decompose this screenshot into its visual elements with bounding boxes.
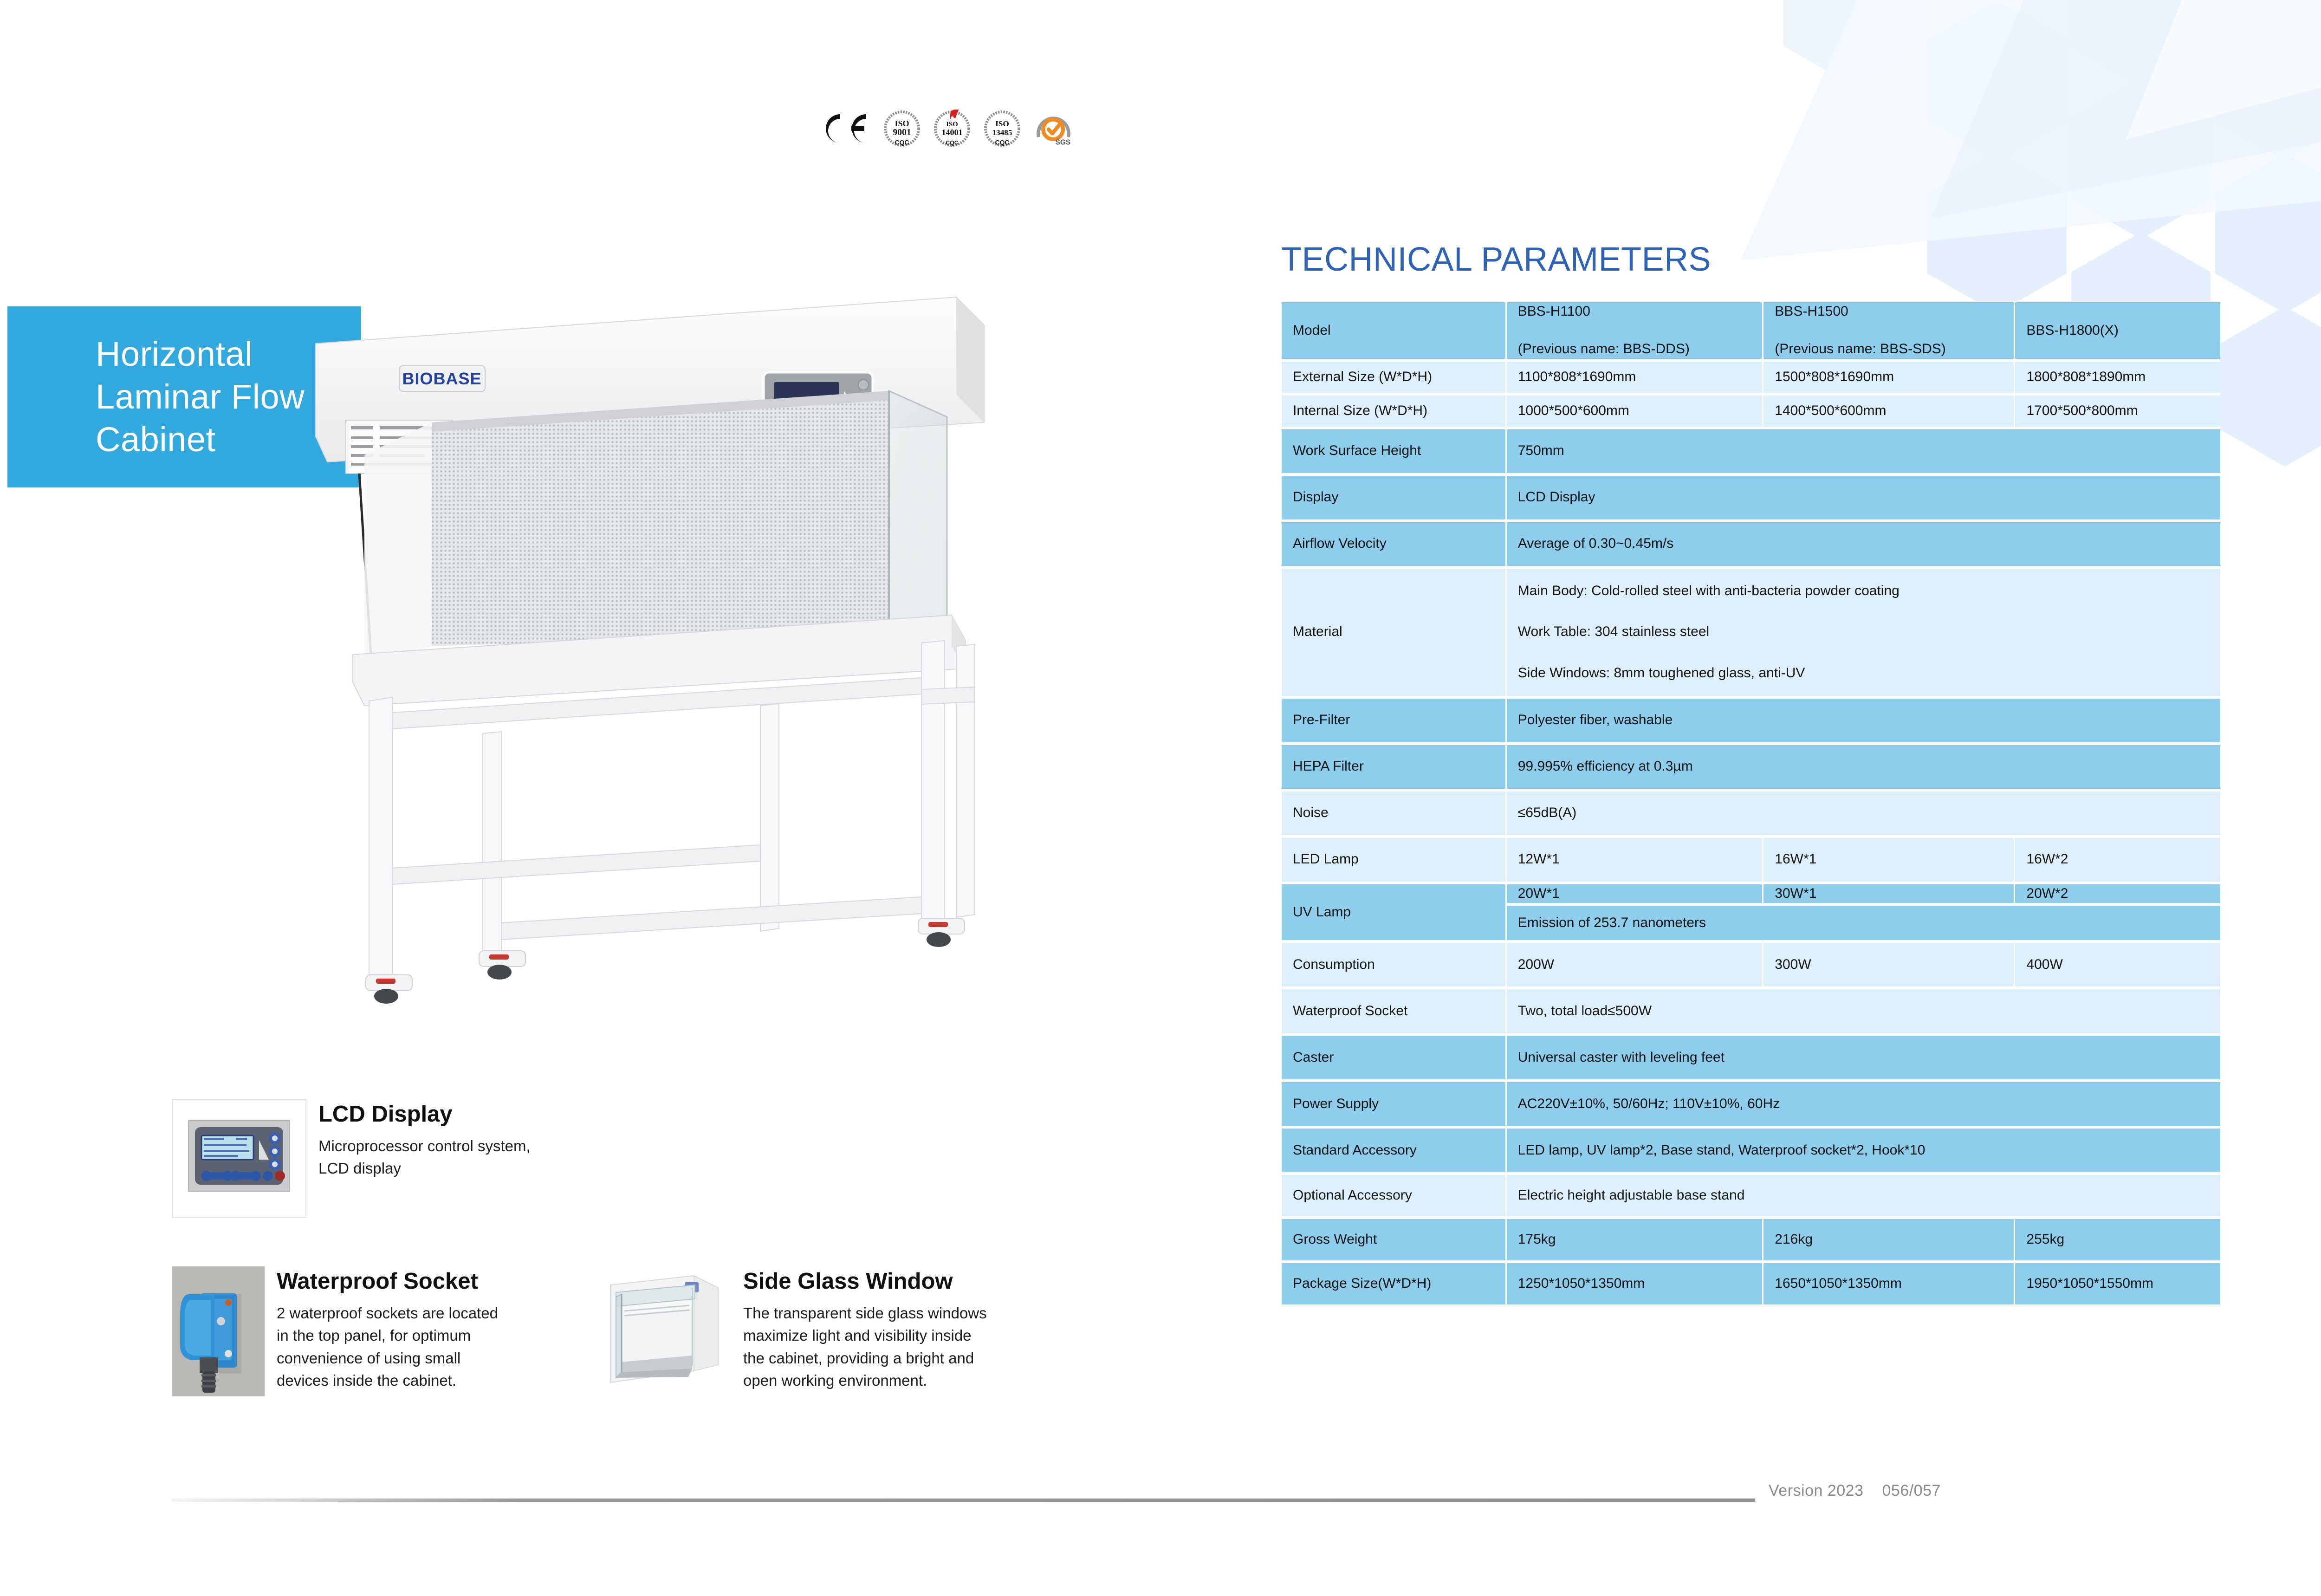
row-cell: 20W*2 xyxy=(2015,883,2220,905)
row-label: Airflow Velocity xyxy=(1282,521,1505,567)
row-cell: Two, total load≤500W xyxy=(1507,988,2220,1034)
row-cell: 16W*2 xyxy=(2015,837,2220,883)
svg-text:ISO: ISO xyxy=(946,121,958,128)
table-row: Model BBS-H1100(Previous name: BBS-DDS) … xyxy=(1282,301,2220,360)
feature-side-glass-window: Side Glass Window The transparent side g… xyxy=(596,1266,987,1392)
row-cell: 20W*1 xyxy=(1507,883,1763,905)
row-cell: AC220V±10%, 50/60Hz; 110V±10%, 60Hz xyxy=(1507,1081,2220,1127)
row-cell: BBS-H1800(X) xyxy=(2015,301,2220,360)
footer-page-number: 056/057 xyxy=(1882,1482,1941,1500)
iso-9001-badge-icon: ISO 9001 CQC xyxy=(883,110,921,148)
feature-heading: Waterproof Socket xyxy=(277,1269,498,1294)
row-cell: LED lamp, UV lamp*2, Base stand, Waterpr… xyxy=(1507,1127,2220,1174)
feature-body: 2 waterproof sockets are located in the … xyxy=(277,1302,498,1392)
row-cell: 99.995% efficiency at 0.3µm xyxy=(1507,744,2220,790)
row-cell: 30W*1 xyxy=(1763,883,2014,905)
iso-14001-badge-icon: ISO 14001 CQC xyxy=(933,110,971,148)
table-row: Consumption 200W 300W 400W xyxy=(1282,941,2220,988)
ce-mark-icon xyxy=(821,110,871,147)
row-cell: 1400*500*600mm xyxy=(1763,394,2014,428)
row-label: Optional Accessory xyxy=(1282,1174,1505,1218)
footer-version: Version 2023 xyxy=(1769,1482,1864,1500)
row-cell: Emission of 253.7 nanometers xyxy=(1507,904,2220,941)
row-cell: 16W*1 xyxy=(1763,837,2014,883)
row-label: Work Surface Height xyxy=(1282,428,1505,474)
svg-text:BIOBASE: BIOBASE xyxy=(402,369,481,388)
row-cell: 1800*808*1890mm xyxy=(2015,360,2220,394)
row-label: External Size (W*D*H) xyxy=(1282,360,1505,394)
row-label: Caster xyxy=(1282,1034,1505,1081)
row-cell: 1250*1050*1350mm xyxy=(1507,1262,1763,1306)
svg-text:ISO: ISO xyxy=(895,119,909,128)
lcd-display-photo xyxy=(172,1099,306,1218)
row-label: Standard Accessory xyxy=(1282,1127,1505,1174)
row-cell: Universal caster with leveling feet xyxy=(1507,1034,2220,1081)
table-row: Work Surface Height 750mm xyxy=(1282,428,2220,474)
row-cell: BBS-H1500(Previous name: BBS-SDS) xyxy=(1763,301,2014,360)
feature-body: The transparent side glass windows maxim… xyxy=(743,1302,987,1392)
row-cell: 216kg xyxy=(1763,1218,2014,1262)
footer: Version 2023 056/057 xyxy=(1769,1482,1941,1500)
row-cell: 12W*1 xyxy=(1507,837,1763,883)
feature-body: Microprocessor control system, LCD displ… xyxy=(318,1135,531,1180)
row-label: Power Supply xyxy=(1282,1081,1505,1127)
row-label: Noise xyxy=(1282,790,1505,837)
table-row: Pre-Filter Polyester fiber, washable xyxy=(1282,697,2220,744)
svg-text:CQC: CQC xyxy=(946,139,958,146)
svg-text:ISO: ISO xyxy=(995,119,1009,128)
table-row: Display LCD Display xyxy=(1282,474,2220,521)
svg-text:13485: 13485 xyxy=(992,128,1012,137)
row-cell: LCD Display xyxy=(1507,474,2220,521)
table-row: External Size (W*D*H) 1100*808*1690mm 15… xyxy=(1282,360,2220,394)
row-cell: 400W xyxy=(2015,941,2220,988)
row-label: Gross Weight xyxy=(1282,1218,1505,1262)
waterproof-socket-photo xyxy=(172,1266,265,1396)
feature-heading: Side Glass Window xyxy=(743,1269,987,1294)
row-cell: 200W xyxy=(1507,941,1763,988)
table-row: HEPA Filter 99.995% efficiency at 0.3µm xyxy=(1282,744,2220,790)
row-cell: 1500*808*1690mm xyxy=(1763,360,2014,394)
row-label: Model xyxy=(1282,301,1505,360)
row-cell: Average of 0.30~0.45m/s xyxy=(1507,521,2220,567)
svg-text:CQC: CQC xyxy=(895,138,909,146)
table-row: Optional Accessory Electric height adjus… xyxy=(1282,1174,2220,1218)
page-section-title: TECHNICAL PARAMETERS xyxy=(1281,240,1711,279)
row-label: Pre-Filter xyxy=(1282,697,1505,744)
footer-divider xyxy=(172,1499,1755,1502)
table-row: Gross Weight 175kg 216kg 255kg xyxy=(1282,1218,2220,1262)
feature-heading: LCD Display xyxy=(318,1102,531,1127)
row-cell: 750mm xyxy=(1507,428,2220,474)
table-row: UV Lamp 20W*1 30W*1 20W*2 xyxy=(1282,883,2220,905)
row-cell: 1100*808*1690mm xyxy=(1507,360,1763,394)
product-photo-horizontal-laminar-flow-cabinet: BIOBASE xyxy=(260,269,1096,1058)
table-row: Airflow Velocity Average of 0.30~0.45m/s xyxy=(1282,521,2220,567)
table-row: Standard Accessory LED lamp, UV lamp*2, … xyxy=(1282,1127,2220,1174)
row-label: HEPA Filter xyxy=(1282,744,1505,790)
svg-text:SGS: SGS xyxy=(1055,138,1070,146)
svg-text:CQC: CQC xyxy=(995,138,1010,146)
table-row: Material Main Body: Cold-rolled steel wi… xyxy=(1282,567,2220,697)
row-cell: 255kg xyxy=(2015,1218,2220,1262)
row-cell: 1650*1050*1350mm xyxy=(1763,1262,2014,1306)
side-glass-window-photo xyxy=(596,1266,731,1392)
row-cell: 1700*500*800mm xyxy=(2015,394,2220,428)
row-cell: Electric height adjustable base stand xyxy=(1507,1174,2220,1218)
row-cell: 300W xyxy=(1763,941,2014,988)
row-cell: 175kg xyxy=(1507,1218,1763,1262)
svg-text:14001: 14001 xyxy=(941,128,962,137)
technical-parameters-table: Model BBS-H1100(Previous name: BBS-DDS) … xyxy=(1280,301,2222,1306)
svg-text:9001: 9001 xyxy=(893,127,911,137)
row-cell: 1950*1050*1550mm xyxy=(2015,1262,2220,1306)
table-row: Waterproof Socket Two, total load≤500W xyxy=(1282,988,2220,1034)
iso-13485-badge-icon: ISO 13485 CQC xyxy=(983,110,1021,148)
row-cell: Polyester fiber, washable xyxy=(1507,697,2220,744)
row-cell: 1000*500*600mm xyxy=(1507,394,1763,428)
row-label: Waterproof Socket xyxy=(1282,988,1505,1034)
row-label: Display xyxy=(1282,474,1505,521)
row-label: Internal Size (W*D*H) xyxy=(1282,394,1505,428)
table-row: Package Size(W*D*H) 1250*1050*1350mm 165… xyxy=(1282,1262,2220,1306)
row-label: LED Lamp xyxy=(1282,837,1505,883)
row-cell: Main Body: Cold-rolled steel with anti-b… xyxy=(1507,567,2220,697)
sgs-badge-icon: SGS xyxy=(1033,110,1073,148)
row-cell: BBS-H1100(Previous name: BBS-DDS) xyxy=(1507,301,1763,360)
table-row: Caster Universal caster with leveling fe… xyxy=(1282,1034,2220,1081)
feature-waterproof-socket: Waterproof Socket 2 waterproof sockets a… xyxy=(172,1266,498,1396)
table-row: Internal Size (W*D*H) 1000*500*600mm 140… xyxy=(1282,394,2220,428)
table-row: Noise ≤65dB(A) xyxy=(1282,790,2220,837)
row-label: Package Size(W*D*H) xyxy=(1282,1262,1505,1306)
table-row: Power Supply AC220V±10%, 50/60Hz; 110V±1… xyxy=(1282,1081,2220,1127)
feature-lcd-display: LCD Display Microprocessor control syste… xyxy=(172,1099,531,1218)
row-label: Consumption xyxy=(1282,941,1505,988)
row-label: Material xyxy=(1282,567,1505,697)
row-cell: ≤65dB(A) xyxy=(1507,790,2220,837)
row-label: UV Lamp xyxy=(1282,883,1505,942)
certification-badges: ISO 9001 CQC ISO 14001 CQC ISO 13485 CQC… xyxy=(821,110,1073,148)
table-row: LED Lamp 12W*1 16W*1 16W*2 xyxy=(1282,837,2220,883)
